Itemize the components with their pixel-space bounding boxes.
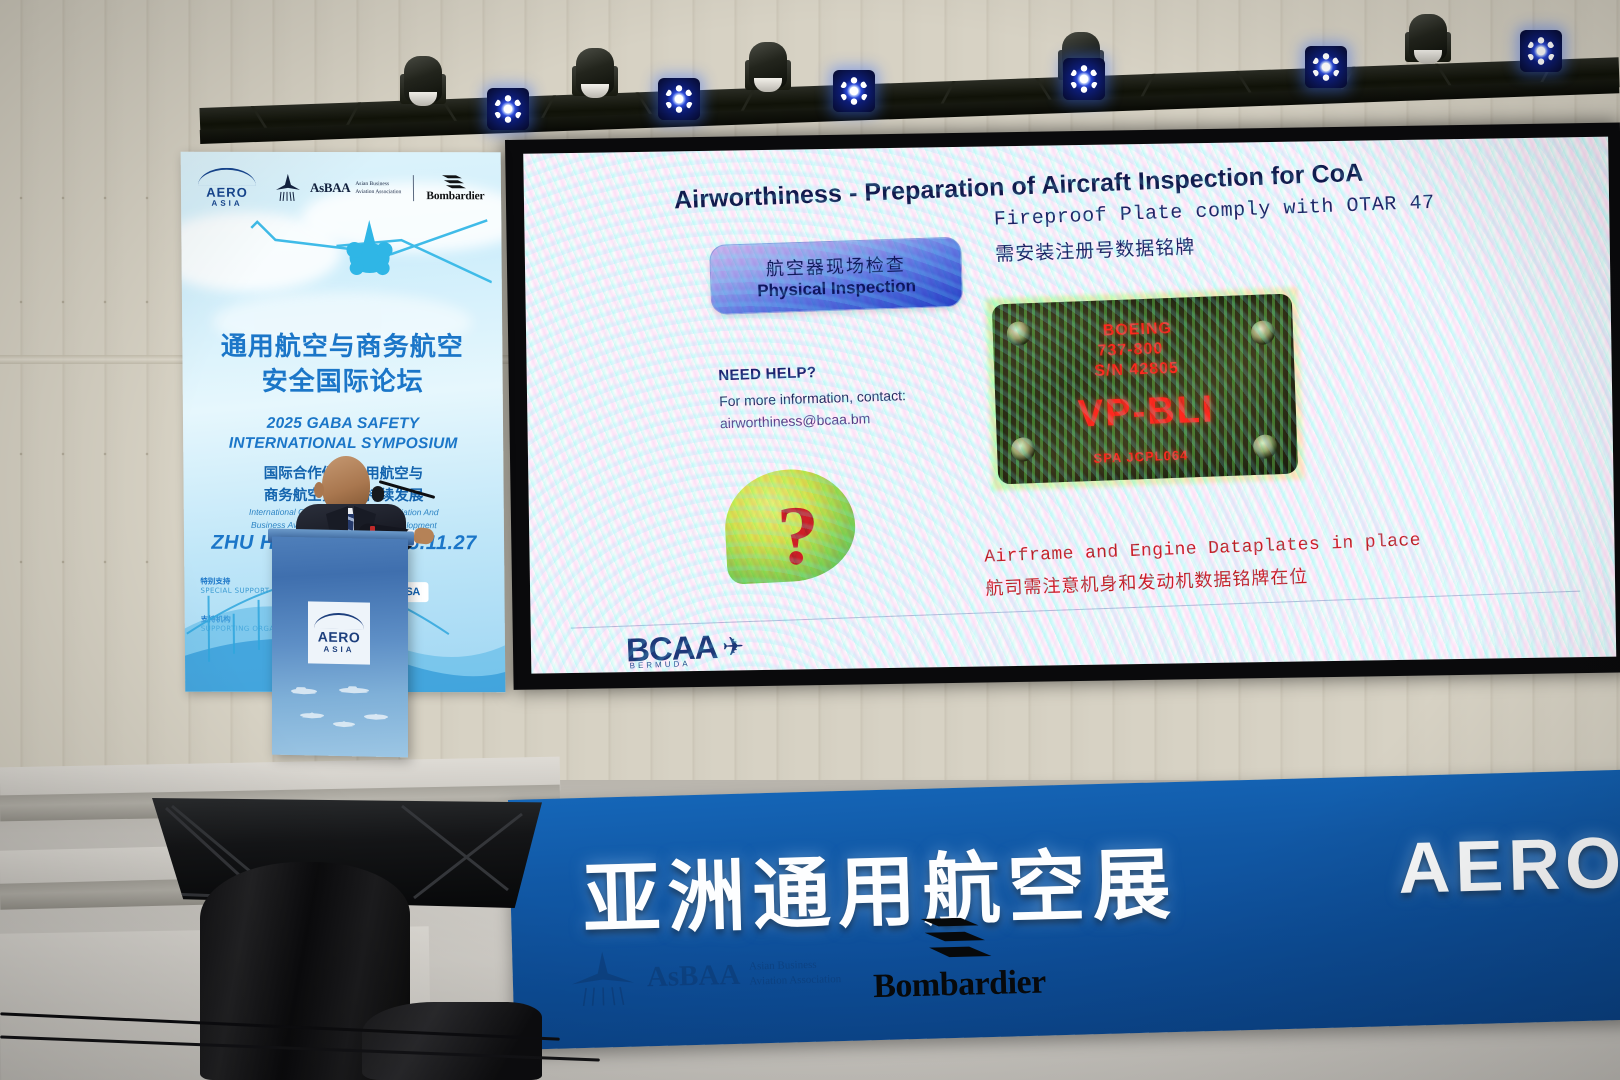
bombardier-logo: Bombardier <box>426 175 484 202</box>
bombardier-chevron-icon <box>442 175 468 189</box>
par-led-light <box>1305 46 1347 88</box>
question-mark-glyph: ? <box>776 487 821 585</box>
aero-asia-word: AERO <box>195 186 259 199</box>
aircraft-silhouettes <box>282 681 398 735</box>
logo-divider <box>413 175 414 201</box>
bcaa-logo-sub: BERMUDA <box>629 659 690 670</box>
dataplate-note-block: Airframe and Engine Dataplates in place … <box>984 527 1526 601</box>
floor-black-cover <box>362 1002 542 1080</box>
exhibition-banner-english: AERO <box>1397 822 1620 910</box>
poster-headline-en-2: INTERNATIONAL SYMPOSIUM <box>183 434 503 455</box>
par-led-light <box>1520 30 1562 72</box>
par-led-light <box>833 70 875 112</box>
poster-headline-en-1: 2025 GABA SAFETY <box>183 414 503 435</box>
slide-surface: Airworthiness - Preparation of Aircraft … <box>523 137 1616 674</box>
poster-headline-cn-2: 安全国际论坛 <box>182 365 502 400</box>
aero-asia-logo: AERO ASIA <box>195 168 259 208</box>
bcaa-logo: BCAA BERMUDA ✈ <box>625 627 744 670</box>
podium-logo-sub: ASIA <box>323 644 354 654</box>
dataplate-registration: VP-BLI <box>1077 388 1215 436</box>
asbaa-mark-icon <box>567 949 639 1009</box>
need-help-line: For more information, contact: <box>719 387 906 409</box>
bombardier-word: Bombardier <box>426 190 484 202</box>
par-led-light <box>1063 58 1105 100</box>
poster-headline-cn-1: 通用航空与商务航空 <box>182 330 502 365</box>
banner-asbaa-desc-2: Aviation Association <box>749 972 841 989</box>
dataplate-model: 737-800 <box>1097 340 1163 360</box>
bombardier-chevron-icon <box>921 917 996 963</box>
poster-logo-row: AERO ASIA AsBAA <box>195 168 487 209</box>
dataplate-manufacturer: BOEING <box>1103 320 1173 341</box>
par-led-light <box>658 78 700 120</box>
podium: AERO ASIA <box>272 537 408 758</box>
podium-logo-word: AERO <box>318 629 360 644</box>
banner-bombardier-logo: Bombardier <box>871 916 1046 1007</box>
par-led-light <box>487 88 529 130</box>
need-help-heading: NEED HELP? <box>718 361 905 384</box>
physical-inspection-english: Physical Inspection <box>757 276 916 301</box>
conference-stage-photo: Airworthiness - Preparation of Aircraft … <box>0 0 1620 1080</box>
exhibition-banner: 亚洲通用航空展 AERO AsBAA Asian Business Aviati… <box>508 770 1620 1050</box>
asbaa-logo: AsBAA Asian Business Aviation Associatio… <box>271 173 402 203</box>
physical-inspection-box: 航空器现场检查 Physical Inspection <box>709 237 963 315</box>
asbaa-word: AsBAA <box>310 180 351 196</box>
aircraft-dataplate-photo: BOEING 737-800 S/N 42805 VP-BLI SPA JCPL… <box>992 294 1298 485</box>
led-presentation-screen: Airworthiness - Preparation of Aircraft … <box>505 122 1620 689</box>
dataplate-serial: S/N 42805 <box>1094 360 1179 381</box>
aero-asia-sub: ASIA <box>195 199 259 208</box>
need-help-email: airworthiness@bcaa.bm <box>720 409 907 431</box>
asbaa-mark-icon <box>271 173 305 203</box>
banner-bombardier-word: Bombardier <box>873 964 1047 1007</box>
asbaa-desc-1: Asian Business <box>355 180 401 188</box>
banner-asbaa-logo: AsBAA Asian Business Aviation Associatio… <box>567 943 842 1008</box>
poster-headline-cn: 通用航空与商务航空 安全国际论坛 <box>182 330 503 400</box>
banner-asbaa-word: AsBAA <box>646 958 740 994</box>
microphone-icon <box>372 486 384 502</box>
podium-aero-asia-logo: AERO ASIA <box>308 601 370 664</box>
asbaa-desc-2: Aviation Association <box>355 188 401 196</box>
business-jet-illustration <box>241 210 492 310</box>
poster-headline-en: 2025 GABA SAFETY INTERNATIONAL SYMPOSIUM <box>183 414 503 455</box>
need-help-block: NEED HELP? For more information, contact… <box>718 361 907 431</box>
airplane-icon: ✈ <box>722 630 745 662</box>
